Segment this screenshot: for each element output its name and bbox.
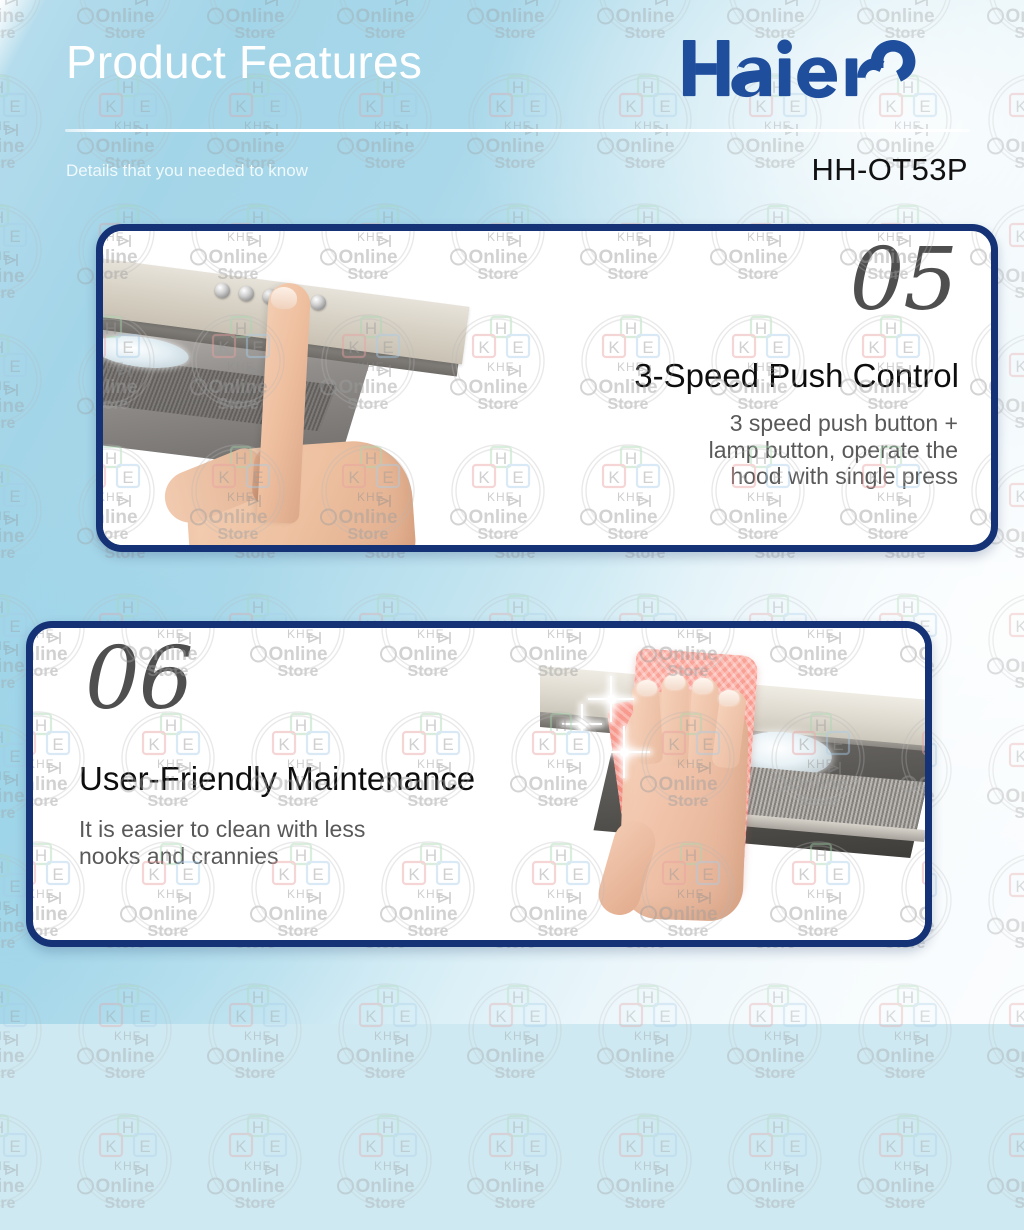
- page-header: Product Features Details that you needed…: [0, 0, 1024, 200]
- svg-text:E: E: [642, 224, 653, 227]
- feature-image-maintenance: [540, 628, 925, 940]
- svg-text:E: E: [9, 1137, 20, 1156]
- svg-text:H: H: [512, 1118, 524, 1137]
- svg-text:Store: Store: [0, 1195, 16, 1212]
- watermark-tile: H K E KHE Online Store: [450, 1100, 580, 1230]
- feature-title-06: User-Friendly Maintenance: [79, 760, 475, 798]
- svg-text:E: E: [312, 621, 323, 624]
- feature-text-05: 05 3-Speed Push Control 3 speed push but…: [498, 231, 991, 545]
- svg-text:H: H: [642, 1118, 654, 1137]
- svg-text:E: E: [252, 224, 263, 227]
- svg-text:E: E: [442, 621, 453, 624]
- svg-text:Store: Store: [495, 1195, 536, 1212]
- watermark-tile: H K E KHE Online Store: [320, 1100, 450, 1230]
- watermark-tile: H K E KHE Online Store: [970, 1100, 1024, 1230]
- svg-text:K: K: [96, 338, 100, 357]
- svg-text:E: E: [529, 1137, 540, 1156]
- svg-text:KHE: KHE: [894, 1029, 922, 1043]
- svg-text:Store: Store: [625, 1065, 666, 1082]
- svg-text:E: E: [902, 224, 913, 227]
- svg-text:KHE: KHE: [114, 1159, 142, 1173]
- svg-text:E: E: [772, 224, 783, 227]
- svg-text:K: K: [365, 1137, 377, 1156]
- svg-text:H: H: [122, 1118, 134, 1137]
- svg-text:Online: Online: [355, 1046, 414, 1067]
- svg-text:E: E: [512, 224, 523, 227]
- svg-text:K: K: [348, 224, 360, 227]
- svg-text:Online: Online: [745, 1176, 804, 1197]
- svg-text:Store: Store: [928, 793, 932, 810]
- svg-text:KHE: KHE: [0, 1159, 12, 1173]
- svg-text:Online: Online: [875, 1176, 934, 1197]
- svg-text:Store: Store: [235, 1065, 276, 1082]
- svg-text:E: E: [789, 1137, 800, 1156]
- svg-text:KHE: KHE: [634, 1159, 662, 1173]
- svg-text:K: K: [755, 1137, 767, 1156]
- svg-text:KHE: KHE: [764, 1029, 792, 1043]
- svg-text:Online: Online: [745, 1046, 804, 1067]
- svg-text:Store: Store: [625, 1195, 666, 1212]
- svg-text:K: K: [885, 1137, 897, 1156]
- svg-text:K: K: [26, 865, 30, 884]
- svg-text:Online: Online: [225, 1046, 284, 1067]
- watermark-tile: H K E KHE Online Store: [0, 1100, 60, 1230]
- header-subtitle: Details that you needed to know: [66, 161, 308, 181]
- svg-text:Online: Online: [1005, 1176, 1024, 1197]
- feature-image-push-control: [103, 231, 498, 545]
- svg-text:K: K: [798, 621, 810, 624]
- page-title: Product Features: [66, 38, 422, 86]
- feature-title-05: 3-Speed Push Control: [634, 357, 959, 395]
- model-number: HH-OT53P: [811, 152, 968, 188]
- svg-text:Store: Store: [1015, 1195, 1024, 1212]
- svg-text:E: E: [832, 621, 843, 624]
- svg-text:Online: Online: [875, 1046, 934, 1067]
- feature-text-06: 06 User-Friendly Maintenance It is easie…: [33, 628, 540, 940]
- haier-logo: [681, 38, 972, 100]
- desc-line: 3 speed push button +: [598, 410, 958, 437]
- svg-text:Store: Store: [885, 1065, 926, 1082]
- svg-text:Online: Online: [0, 1176, 25, 1197]
- svg-text:K: K: [278, 621, 290, 624]
- svg-text:E: E: [659, 1137, 670, 1156]
- svg-text:H: H: [772, 1118, 784, 1137]
- svg-text:Store: Store: [105, 1195, 146, 1212]
- svg-text:E: E: [919, 1137, 930, 1156]
- desc-line: hood with single press: [598, 463, 958, 490]
- feature-description-05: 3 speed push button + lamp button, opera…: [598, 410, 958, 490]
- svg-text:Online: Online: [95, 1176, 154, 1197]
- svg-text:Store: Store: [928, 663, 932, 680]
- svg-text:Store: Store: [235, 1195, 276, 1212]
- feature-card-06[interactable]: 06 User-Friendly Maintenance It is easie…: [26, 621, 932, 947]
- svg-text:K: K: [26, 735, 30, 754]
- svg-text:K: K: [868, 224, 880, 227]
- svg-text:KHE: KHE: [634, 1029, 662, 1043]
- svg-text:Online: Online: [95, 1046, 154, 1067]
- svg-text:Store: Store: [495, 1065, 536, 1082]
- svg-text:H: H: [252, 1118, 264, 1137]
- svg-text:Online: Online: [615, 1176, 674, 1197]
- svg-text:Store: Store: [885, 1195, 926, 1212]
- svg-text:K: K: [495, 1137, 507, 1156]
- desc-line: lamp button, operate the: [598, 437, 958, 464]
- svg-text:E: E: [182, 621, 193, 624]
- desc-line: It is easier to clean with less: [79, 816, 519, 843]
- svg-text:KHE: KHE: [504, 1029, 532, 1043]
- svg-text:KHE: KHE: [114, 1029, 142, 1043]
- svg-text:Online: Online: [0, 1046, 25, 1067]
- svg-text:K: K: [738, 224, 750, 227]
- svg-text:Store: Store: [365, 1195, 406, 1212]
- svg-text:KHE: KHE: [0, 1029, 12, 1043]
- svg-text:Store: Store: [0, 1065, 16, 1082]
- header-divider: [65, 129, 970, 132]
- svg-text:KHE: KHE: [244, 1029, 272, 1043]
- svg-text:E: E: [139, 1137, 150, 1156]
- svg-text:K: K: [218, 224, 230, 227]
- svg-text:Online: Online: [225, 1176, 284, 1197]
- svg-text:K: K: [538, 621, 550, 624]
- svg-text:KHE: KHE: [894, 1159, 922, 1173]
- feature-number-06: 06: [85, 636, 192, 722]
- watermark-tile: H K E KHE Online Store: [580, 1100, 710, 1230]
- svg-text:K: K: [96, 468, 100, 487]
- svg-text:Store: Store: [365, 1065, 406, 1082]
- watermark-tile: H K E KHE Online Store: [190, 1100, 320, 1230]
- svg-text:H: H: [902, 1118, 914, 1137]
- svg-text:KHE: KHE: [374, 1159, 402, 1173]
- svg-text:Online: Online: [485, 1046, 544, 1067]
- svg-text:H: H: [382, 1118, 394, 1137]
- svg-text:KHE: KHE: [374, 1029, 402, 1043]
- svg-text:Store: Store: [755, 1065, 796, 1082]
- svg-text:E: E: [52, 621, 63, 624]
- feature-card-05[interactable]: 05 3-Speed Push Control 3 speed push but…: [96, 224, 998, 552]
- feature-number-05: 05: [850, 237, 957, 323]
- svg-text:Store: Store: [755, 1195, 796, 1212]
- desc-line: nooks and crannies: [79, 843, 519, 870]
- svg-text:KHE: KHE: [504, 1159, 532, 1173]
- svg-text:K: K: [928, 865, 932, 884]
- svg-text:Online: Online: [485, 1176, 544, 1197]
- svg-text:K: K: [408, 621, 420, 624]
- watermark-tile: H K E KHE Online Store: [60, 1100, 190, 1230]
- svg-text:K: K: [105, 1137, 117, 1156]
- svg-text:E: E: [702, 621, 713, 624]
- svg-text:K: K: [235, 1137, 247, 1156]
- svg-text:Online: Online: [355, 1176, 414, 1197]
- feature-description-06: It is easier to clean with less nooks an…: [79, 816, 519, 869]
- svg-text:K: K: [668, 621, 680, 624]
- svg-text:Store: Store: [1015, 1065, 1024, 1082]
- svg-text:K: K: [478, 224, 490, 227]
- svg-text:Store: Store: [105, 1065, 146, 1082]
- svg-text:KHE: KHE: [244, 1159, 272, 1173]
- watermark-tile: H K E KHE Online Store: [710, 1100, 840, 1230]
- svg-text:E: E: [269, 1137, 280, 1156]
- svg-text:Online: Online: [1005, 1046, 1024, 1067]
- svg-text:KHE: KHE: [764, 1159, 792, 1173]
- svg-text:K: K: [608, 224, 620, 227]
- svg-text:K: K: [928, 735, 932, 754]
- svg-text:E: E: [122, 224, 133, 227]
- svg-text:K: K: [1015, 1137, 1024, 1156]
- svg-text:E: E: [572, 621, 583, 624]
- watermark-tile: H K E KHE Online Store: [840, 1100, 970, 1230]
- svg-text:E: E: [399, 1137, 410, 1156]
- svg-text:K: K: [148, 621, 160, 624]
- svg-text:Online: Online: [615, 1046, 674, 1067]
- svg-text:K: K: [625, 1137, 637, 1156]
- svg-text:E: E: [382, 224, 393, 227]
- svg-text:H: H: [0, 1118, 4, 1137]
